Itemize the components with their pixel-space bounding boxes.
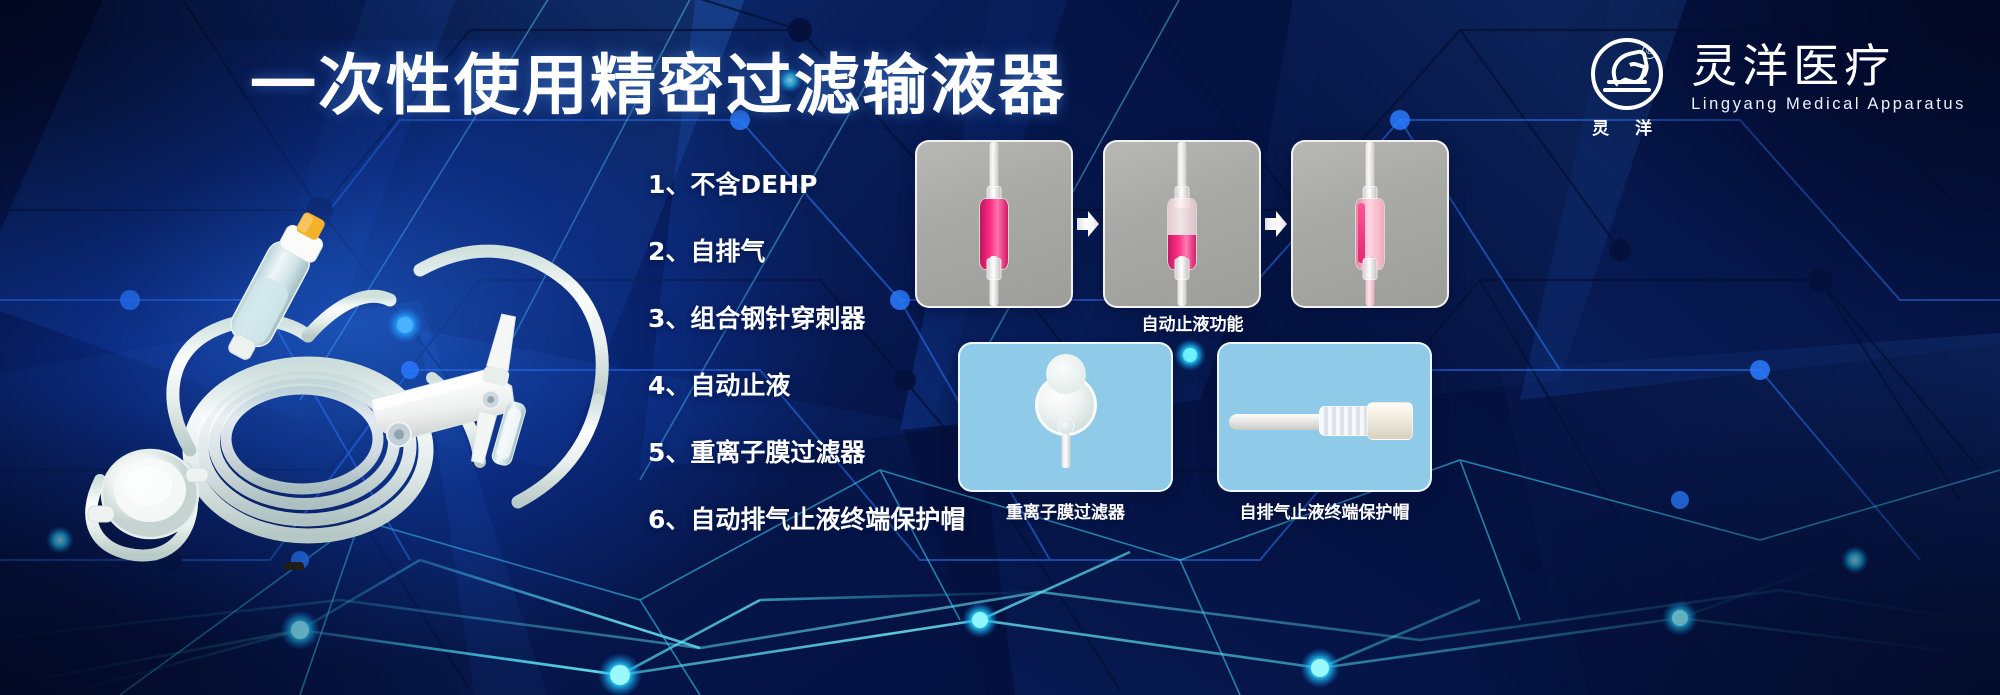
company-name-cn: 灵洋医疗 bbox=[1691, 42, 1966, 90]
product-photo bbox=[40, 150, 660, 570]
detail-photo-filter bbox=[958, 342, 1173, 492]
company-name-en: Lingyang Medical Apparatus bbox=[1691, 95, 1966, 114]
sequence-frame-3 bbox=[1291, 140, 1449, 308]
brand-logo: ® 灵 洋 灵洋医疗 Lingyang Medical Apparatus bbox=[1581, 38, 1966, 139]
logo-emblem-caption: 灵 洋 bbox=[1581, 114, 1673, 139]
logo-text-block: 灵洋医疗 Lingyang Medical Apparatus bbox=[1691, 38, 1966, 114]
registered-trademark-icon: ® bbox=[1642, 44, 1657, 59]
arrow-right-icon bbox=[1265, 211, 1287, 237]
wave-bird-seal-icon: ® bbox=[1591, 38, 1663, 110]
auto-stop-caption-wrap: 自动止液功能 bbox=[915, 310, 1470, 335]
sequence-frame-1 bbox=[915, 140, 1073, 308]
banner-root: 一次性使用精密过滤输液器 ® 灵 洋 灵洋医疗 Lingyang Medical… bbox=[0, 0, 2000, 695]
detail-photo-cap bbox=[1217, 342, 1432, 492]
detail-photo-row bbox=[958, 342, 1432, 492]
title-area: 一次性使用精密过滤输液器 bbox=[250, 44, 1040, 128]
sequence-frame-2 bbox=[1103, 140, 1261, 308]
auto-stop-caption: 自动止液功能 bbox=[915, 310, 1470, 335]
detail-caption-cap: 自排气止液终端保护帽 bbox=[1217, 498, 1432, 523]
feature-item-4: 4、自动止液 bbox=[648, 373, 988, 398]
logo-emblem: ® 灵 洋 bbox=[1581, 38, 1673, 139]
feature-item-6: 6、自动排气止液终端保护帽 bbox=[648, 507, 988, 532]
infusion-set-illustration bbox=[40, 150, 660, 570]
sequence-arrow-1 bbox=[1073, 211, 1103, 237]
detail-caption-filter: 重离子膜过滤器 bbox=[958, 498, 1173, 523]
auto-stop-sequence bbox=[915, 140, 1449, 308]
page-title: 一次性使用精密过滤输液器 bbox=[250, 53, 1066, 119]
feature-item-5: 5、重离子膜过滤器 bbox=[648, 440, 988, 465]
sequence-arrow-2 bbox=[1261, 211, 1291, 237]
detail-caption-row: 重离子膜过滤器 自排气止液终端保护帽 bbox=[958, 498, 1432, 523]
arrow-right-icon bbox=[1077, 211, 1099, 237]
